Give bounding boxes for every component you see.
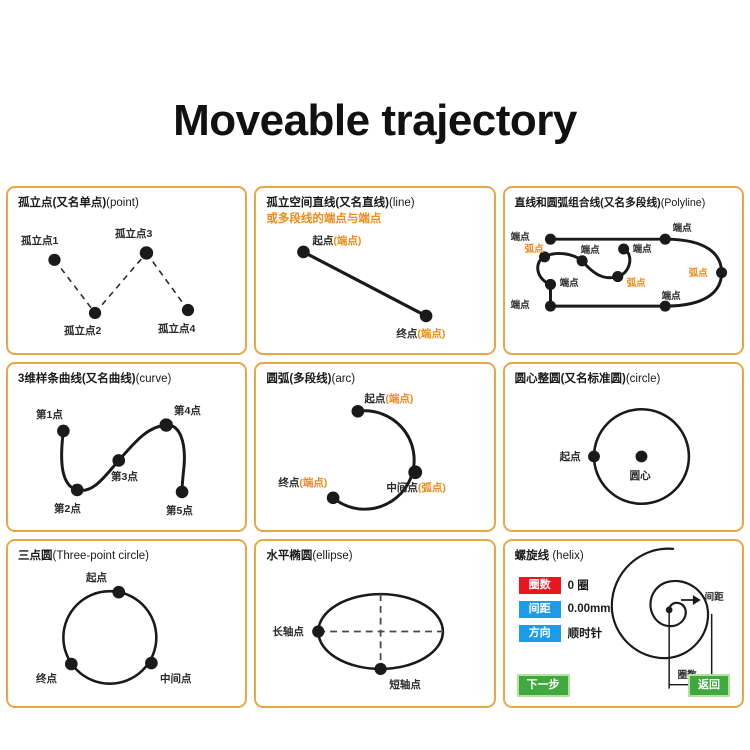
curve-label-5: 第5点 [166, 506, 193, 517]
card-point[interactable]: 孤立点(又名单点)(point) 孤立点1 孤立点2 孤立点3 孤立点4 [6, 186, 247, 355]
curve-node-5[interactable] [176, 486, 189, 499]
point-dashed-segment-1 [54, 260, 95, 313]
point-label-2: 孤立点2 [64, 326, 101, 337]
three-point-middle-node[interactable] [145, 656, 158, 669]
polyline-label-endpoint-2: 端点 [673, 224, 692, 234]
arc-start-node[interactable] [352, 405, 365, 418]
line-start-label-main: 起点 [312, 235, 333, 247]
ellipse-minor-label: 短轴点 [389, 680, 421, 691]
arc-end-node[interactable] [327, 492, 340, 505]
circle-center-node[interactable] [635, 451, 647, 463]
point-diagram-svg [8, 188, 245, 353]
arc-middle-label-main: 中间点 [386, 482, 418, 494]
arc-diagram-svg [256, 364, 493, 529]
arc-end-label: 终点(端点) [278, 478, 327, 489]
line-diagram-svg [256, 188, 493, 353]
circle-diagram-svg [505, 364, 742, 529]
card-three-point-circle[interactable]: 三点圆(Three-point circle) 起点 终点 中间点 [6, 539, 247, 708]
arc-middle-label-tag: (弧点) [418, 482, 446, 494]
point-node-2[interactable] [89, 307, 101, 319]
polyline-endpoint-2[interactable] [659, 234, 670, 245]
curve-diagram-svg [8, 364, 245, 529]
point-dashed-segment-3 [146, 253, 188, 310]
point-label-1: 孤立点1 [21, 236, 58, 247]
curve-node-4[interactable] [159, 419, 172, 432]
card-line-diagram: 起点(端点) 终点(端点) [256, 188, 493, 353]
polyline-label-endpoint-7: 端点 [633, 245, 652, 255]
arc-end-label-main: 终点 [278, 477, 299, 489]
curve-label-1: 第1点 [36, 410, 63, 421]
arc-middle-node[interactable] [409, 466, 423, 480]
card-three-point-circle-diagram: 起点 终点 中间点 [8, 541, 245, 706]
curve-node-3[interactable] [112, 454, 125, 467]
ellipse-minor-node[interactable] [375, 662, 387, 674]
card-arc[interactable]: 圆弧(多段线)(arc) 起点(端点) 中间点(弧点) 终点(端点) [254, 362, 495, 531]
polyline-endpoint-1[interactable] [545, 234, 556, 245]
line-start-label: 起点(端点) [312, 236, 361, 247]
curve-node-1[interactable] [57, 425, 70, 438]
polyline-label-endpoint-5: 端点 [560, 279, 579, 289]
polyline-arcpoint-right[interactable] [716, 267, 727, 278]
card-curve-diagram: 第1点 第2点 第3点 第4点 第5点 [8, 364, 245, 529]
ellipse-major-node[interactable] [312, 625, 324, 637]
three-point-end-node[interactable] [65, 657, 78, 670]
three-point-circle-outline [63, 591, 156, 684]
point-node-1[interactable] [48, 254, 60, 266]
helix-back-button[interactable]: 返回 [688, 674, 730, 697]
arc-start-label-tag: (端点) [385, 393, 413, 405]
polyline-label-endpoint-1: 端点 [511, 233, 530, 243]
curve-label-3: 第3点 [111, 472, 138, 483]
page-title: Moveable trajectory [0, 96, 750, 146]
point-label-3: 孤立点3 [115, 229, 152, 240]
card-line[interactable]: 孤立空间直线(又名直线)(line) 或多段线的端点与端点 起点(端点) 终点(… [254, 186, 495, 355]
point-dashed-segment-2 [95, 253, 146, 313]
arc-start-label: 起点(端点) [364, 394, 413, 405]
curve-node-2[interactable] [71, 484, 84, 497]
polyline-label-endpoint-6: 端点 [581, 246, 600, 256]
polyline-label-endpoint-3: 端点 [662, 292, 681, 302]
polyline-mid-arc-1 [544, 253, 582, 260]
card-ellipse[interactable]: 水平椭圆(ellipse) 长轴点 短轴点 [254, 539, 495, 708]
helix-pitch-arrow-head [693, 595, 701, 605]
card-point-diagram: 孤立点1 孤立点2 孤立点3 孤立点4 [8, 188, 245, 353]
polyline-label-arcpoint-right: 弧点 [689, 269, 708, 279]
card-helix[interactable]: 螺旋线 (helix) 圈数 0 圈 间距 0.00mm 方向 顺时针 [503, 539, 744, 708]
card-arc-diagram: 起点(端点) 中间点(弧点) 终点(端点) [256, 364, 493, 529]
helix-next-button[interactable]: 下一步 [517, 674, 570, 697]
three-point-end-label: 终点 [36, 674, 57, 685]
ellipse-major-label: 长轴点 [272, 627, 304, 638]
line-end-label-main: 终点 [396, 328, 417, 340]
card-polyline-diagram: 端点 端点 端点 端点 端点 端点 端点 弧点 弧点 弧点 [505, 188, 742, 353]
trajectory-card-grid: 孤立点(又名单点)(point) 孤立点1 孤立点2 孤立点3 孤立点4 [6, 186, 744, 708]
line-start-label-tag: (端点) [333, 235, 361, 247]
line-end-label: 终点(端点) [396, 329, 445, 340]
curve-label-4: 第4点 [174, 406, 201, 417]
circle-center-label: 圆心 [630, 471, 651, 482]
card-circle-diagram: 起点 圆心 [505, 364, 742, 529]
helix-pitch-diagram-label: 间距 [705, 593, 724, 603]
polyline-endpoint-7[interactable] [618, 244, 629, 255]
polyline-endpoint-5[interactable] [545, 279, 556, 290]
polyline-arcpoint-mid[interactable] [612, 271, 623, 282]
arc-middle-label: 中间点(弧点) [386, 483, 446, 494]
point-label-4: 孤立点4 [158, 324, 195, 335]
card-polyline[interactable]: 直线和圆弧组合线(又名多段线)(Polyline) [503, 186, 744, 355]
line-end-node[interactable] [420, 310, 433, 323]
card-circle[interactable]: 圆心整圆(又名标准圆)(circle) 起点 圆心 [503, 362, 744, 531]
line-end-label-tag: (端点) [417, 328, 445, 340]
arc-start-label-main: 起点 [364, 393, 385, 405]
polyline-label-arcpoint-left: 弧点 [525, 245, 544, 255]
polyline-label-arcpoint-mid: 弧点 [627, 279, 646, 289]
curve-label-2: 第2点 [54, 504, 81, 515]
polyline-endpoint-3[interactable] [659, 301, 670, 312]
circle-start-label: 起点 [560, 452, 581, 463]
arc-end-label-tag: (端点) [299, 477, 327, 489]
point-node-3[interactable] [140, 246, 153, 259]
arc-path [333, 411, 414, 509]
polyline-endpoint-4[interactable] [545, 301, 556, 312]
three-point-start-node[interactable] [112, 586, 125, 599]
ellipse-diagram-svg [256, 541, 493, 706]
line-segment [304, 252, 427, 316]
line-start-node[interactable] [297, 246, 310, 259]
card-curve[interactable]: 3维样条曲线(又名曲线)(curve) 第1点 第2点 第3点 第4点 第5点 [6, 362, 247, 531]
card-ellipse-diagram: 长轴点 短轴点 [256, 541, 493, 706]
three-point-start-label: 起点 [86, 573, 107, 584]
three-point-middle-label: 中间点 [160, 674, 192, 685]
circle-start-node[interactable] [588, 451, 600, 463]
point-node-4[interactable] [182, 304, 194, 316]
polyline-endpoint-6[interactable] [576, 255, 587, 266]
trajectory-reference-page: Moveable trajectory 孤立点(又名单点)(point) 孤立点… [0, 0, 750, 750]
polyline-label-endpoint-4: 端点 [511, 301, 530, 311]
